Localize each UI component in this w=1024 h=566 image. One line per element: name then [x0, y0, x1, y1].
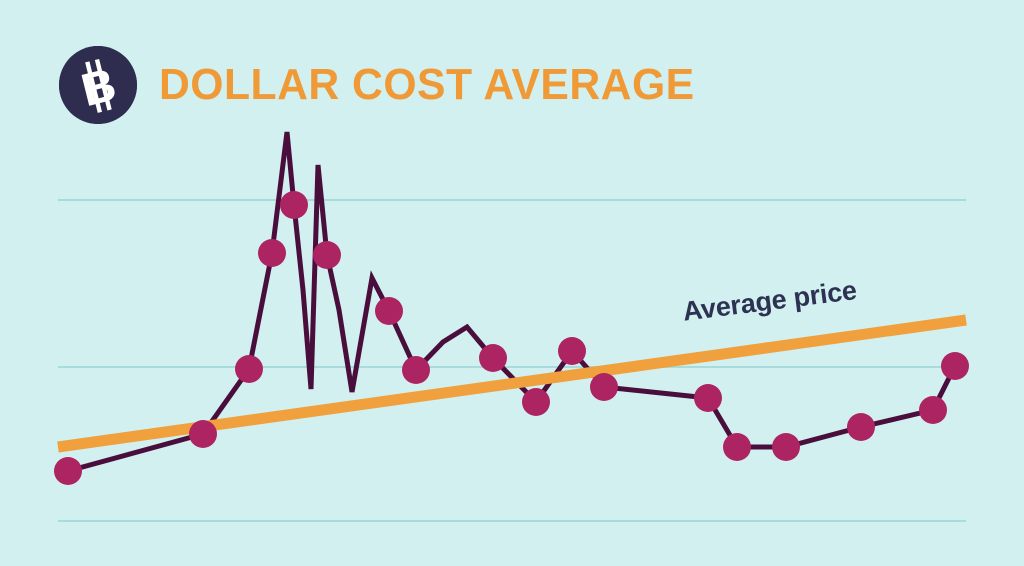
data-point-marker[interactable] — [723, 433, 751, 461]
data-point-marker[interactable] — [772, 433, 800, 461]
infographic-canvas: B DOLLAR COST AVERAGE Average price — [0, 0, 1024, 566]
data-point-marker[interactable] — [54, 457, 82, 485]
data-point-marker[interactable] — [590, 373, 618, 401]
data-point-marker[interactable] — [847, 413, 875, 441]
data-point-marker[interactable] — [235, 355, 263, 383]
data-point-marker[interactable] — [280, 191, 308, 219]
data-point-marker[interactable] — [919, 396, 947, 424]
data-point-marker[interactable] — [694, 384, 722, 412]
data-point-marker[interactable] — [189, 420, 217, 448]
data-point-marker[interactable] — [258, 239, 286, 267]
data-point-marker[interactable] — [402, 356, 430, 384]
data-point-marker[interactable] — [313, 241, 341, 269]
data-point-marker[interactable] — [522, 388, 550, 416]
data-point-marker[interactable] — [375, 297, 403, 325]
gridlines — [58, 200, 966, 521]
data-point-marker[interactable] — [558, 337, 586, 365]
data-point-marker[interactable] — [479, 344, 507, 372]
line-chart — [0, 0, 1024, 566]
data-point-marker[interactable] — [941, 352, 969, 380]
